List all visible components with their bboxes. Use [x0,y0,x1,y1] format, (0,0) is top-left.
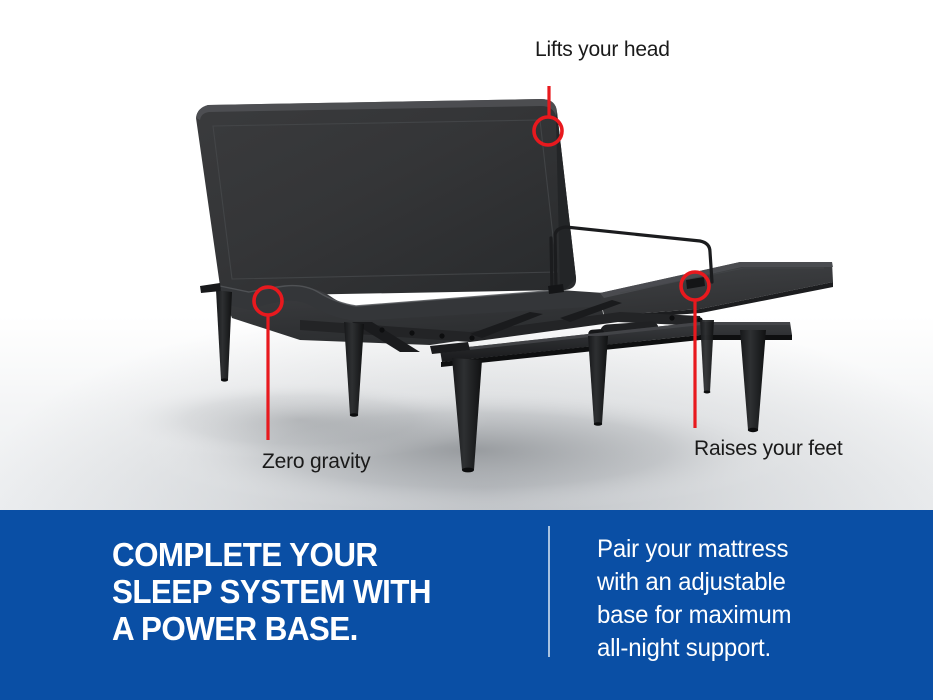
leg-front-right [740,330,766,430]
head-panel [196,99,576,296]
subcopy-line-3: base for maximum [597,599,885,632]
headline-line-3: A POWER BASE. [112,610,511,647]
callout-label-raises-feet: Raises your feet [694,437,843,461]
banner-subcopy: Pair your mattress with an adjustable ba… [597,533,885,665]
foot-deck [600,262,833,320]
promo-image: Lifts your head Zero gravity Raises your… [0,0,933,700]
subcopy-line-1: Pair your mattress [597,533,885,566]
banner-headline: COMPLETE YOUR SLEEP SYSTEM WITH A POWER … [112,536,511,647]
callout-label-zero-gravity: Zero gravity [262,450,370,474]
floor-shadow-soft [110,380,490,460]
leg-back-right [700,320,714,392]
adjustable-bed-illustration [0,0,933,510]
subcopy-line-2: with an adjustable [597,566,885,599]
headline-line-2: SLEEP SYSTEM WITH [112,573,511,610]
subcopy-line-4: all-night support. [597,632,885,665]
headline-line-1: COMPLETE YOUR [112,536,511,573]
promo-banner: COMPLETE YOUR SLEEP SYSTEM WITH A POWER … [0,510,933,700]
callout-label-lifts-head: Lifts your head [535,38,670,62]
banner-vertical-divider [548,526,550,657]
product-photo: Lifts your head Zero gravity Raises your… [0,0,933,510]
leg-back-left [216,290,232,380]
